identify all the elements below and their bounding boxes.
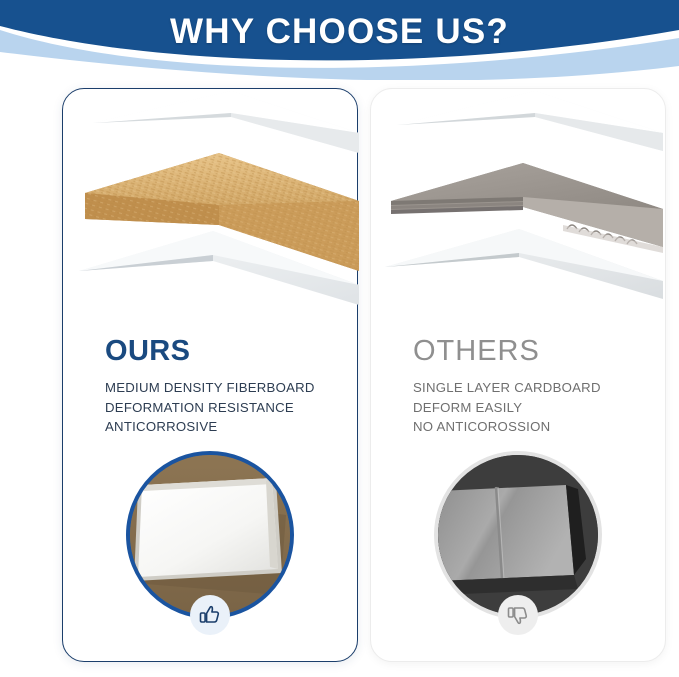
ours-feature-list: MEDIUM DENSITY FIBERBOARD DEFORMATION RE… xyxy=(105,378,355,437)
ours-product-photo[interactable] xyxy=(126,451,294,619)
top-sheet-layer xyxy=(397,91,663,151)
top-laminate-layer xyxy=(93,91,359,153)
cardboard-exploded-diagram xyxy=(371,89,667,325)
ours-feature-item: DEFORMATION RESISTANCE xyxy=(105,398,355,418)
comparison-section: OURS MEDIUM DENSITY FIBERBOARD DEFORMATI… xyxy=(0,88,679,668)
ours-feature-item: MEDIUM DENSITY FIBERBOARD xyxy=(105,378,355,398)
ours-heading: OURS xyxy=(105,337,355,366)
others-product-photo[interactable] xyxy=(434,451,602,619)
ours-photo-wrap xyxy=(126,451,294,619)
others-feature-item: NO ANTICOROSSION xyxy=(413,417,663,437)
page-title: WHY CHOOSE US? xyxy=(0,0,679,64)
header-banner: WHY CHOOSE US? xyxy=(0,0,679,80)
ours-card[interactable]: OURS MEDIUM DENSITY FIBERBOARD DEFORMATI… xyxy=(62,88,358,662)
others-heading: OTHERS xyxy=(413,337,663,366)
others-feature-item: SINGLE LAYER CARDBOARD xyxy=(413,378,663,398)
mdf-board-exploded-diagram xyxy=(63,89,359,325)
ours-text-block: OURS MEDIUM DENSITY FIBERBOARD DEFORMATI… xyxy=(105,337,355,437)
others-feature-list: SINGLE LAYER CARDBOARD DEFORM EASILY NO … xyxy=(413,378,663,437)
ours-feature-item: ANTICORROSIVE xyxy=(105,417,355,437)
others-photo-wrap xyxy=(434,451,602,619)
thumbs-down-icon xyxy=(498,595,538,635)
thumbs-up-icon xyxy=(190,595,230,635)
others-feature-item: DEFORM EASILY xyxy=(413,398,663,418)
others-card[interactable]: OTHERS SINGLE LAYER CARDBOARD DEFORM EAS… xyxy=(370,88,666,662)
others-text-block: OTHERS SINGLE LAYER CARDBOARD DEFORM EAS… xyxy=(413,337,663,437)
